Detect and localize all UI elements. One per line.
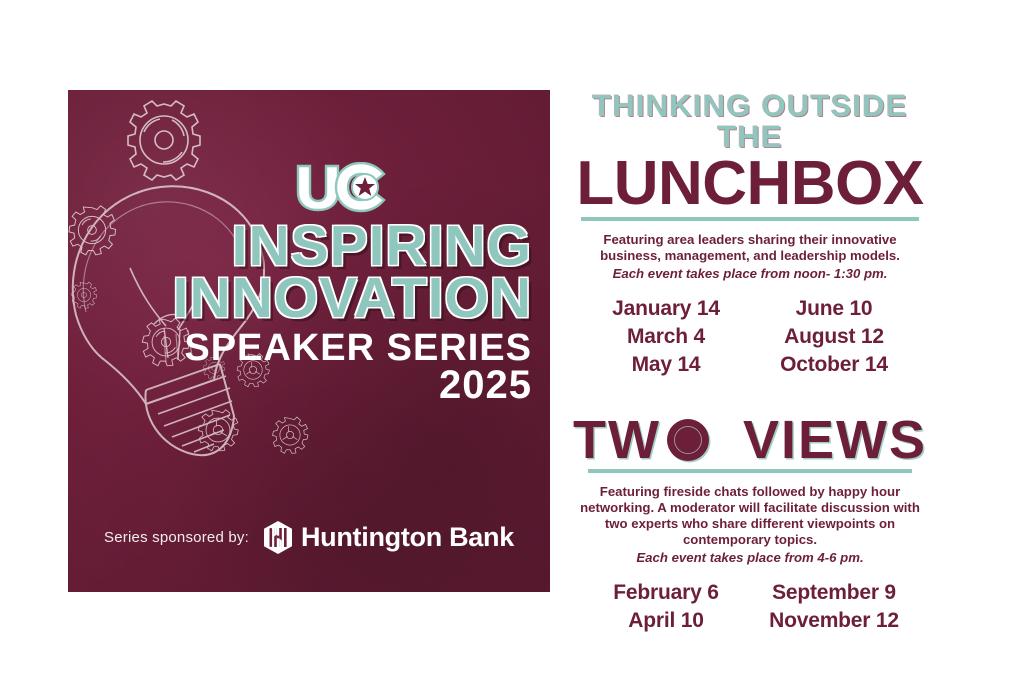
twoviews-dates-column-left: February 6 April 10: [582, 579, 750, 635]
twoviews-title-part1: TW: [573, 413, 661, 467]
lunchbox-dates-column-left: January 14 March 4 May 14: [582, 295, 750, 379]
sponsor-row: Series sponsored by: Huntington Bank: [68, 521, 550, 554]
poster-title-line3: SPEAKER SERIES: [68, 329, 532, 367]
twoviews-time-note: Each event takes place from 4-6 pm.: [576, 550, 924, 566]
event-date: February 6: [582, 579, 750, 607]
event-date: October 14: [750, 351, 918, 379]
event-poster: INSPIRING INNOVATION SPEAKER SERIES 2025…: [68, 90, 550, 592]
huntington-bank-lockup: Huntington Bank: [263, 521, 514, 554]
twoviews-description: Featuring fireside chats followed by hap…: [576, 484, 924, 566]
twoviews-title-part2: VIEWS: [743, 413, 927, 467]
sponsor-name: Huntington Bank: [301, 522, 514, 553]
sponsor-label: Series sponsored by:: [104, 529, 249, 546]
lunchbox-title: LUNCHBOX: [570, 154, 930, 214]
huntington-hexagon-icon: [263, 521, 293, 554]
event-date: September 9: [750, 579, 918, 607]
twoviews-dates: February 6 April 10 September 9 November…: [570, 579, 930, 635]
twoviews-title: TWVIEWS: [570, 413, 930, 467]
lunchbox-blurb-line2: management, and leadership models.: [665, 248, 900, 263]
event-date: November 12: [750, 607, 918, 635]
series-details-panel: THINKING OUTSIDE THE LUNCHBOX Featuring …: [570, 90, 930, 590]
gear-icon: [273, 417, 308, 453]
twoviews-dates-column-right: September 9 November 12: [750, 579, 918, 635]
lunchbox-dates-column-right: June 10 August 12 October 14: [750, 295, 918, 379]
lunchbox-section: THINKING OUTSIDE THE LUNCHBOX Featuring …: [570, 90, 930, 379]
event-date: March 4: [582, 323, 750, 351]
uc-logo: [292, 162, 392, 214]
lunchbox-description: Featuring area leaders sharing their inn…: [576, 232, 924, 282]
poster-title-year: 2025: [68, 365, 532, 405]
twoviews-blurb-line3: who share different viewpoints on contem…: [682, 516, 895, 547]
lunchbox-time-note: Each event takes place from noon- 1:30 p…: [576, 266, 924, 282]
gear-icon: [128, 101, 200, 180]
poster-headline: INSPIRING INNOVATION SPEAKER SERIES 2025: [68, 220, 550, 405]
event-date: April 10: [582, 607, 750, 635]
poster-title-line1: INSPIRING: [68, 220, 532, 272]
ring-circle-o-icon: [667, 419, 709, 461]
lunchbox-dates: January 14 March 4 May 14 June 10 August…: [570, 295, 930, 379]
poster-title-line2: INNOVATION: [68, 272, 532, 324]
event-date: May 14: [582, 351, 750, 379]
lunchbox-eyebrow: THINKING OUTSIDE THE: [570, 90, 930, 152]
event-date: January 14: [582, 295, 750, 323]
event-date: June 10: [750, 295, 918, 323]
event-date: August 12: [750, 323, 918, 351]
twoviews-section: TWVIEWS Featuring fireside chats followe…: [570, 413, 930, 635]
